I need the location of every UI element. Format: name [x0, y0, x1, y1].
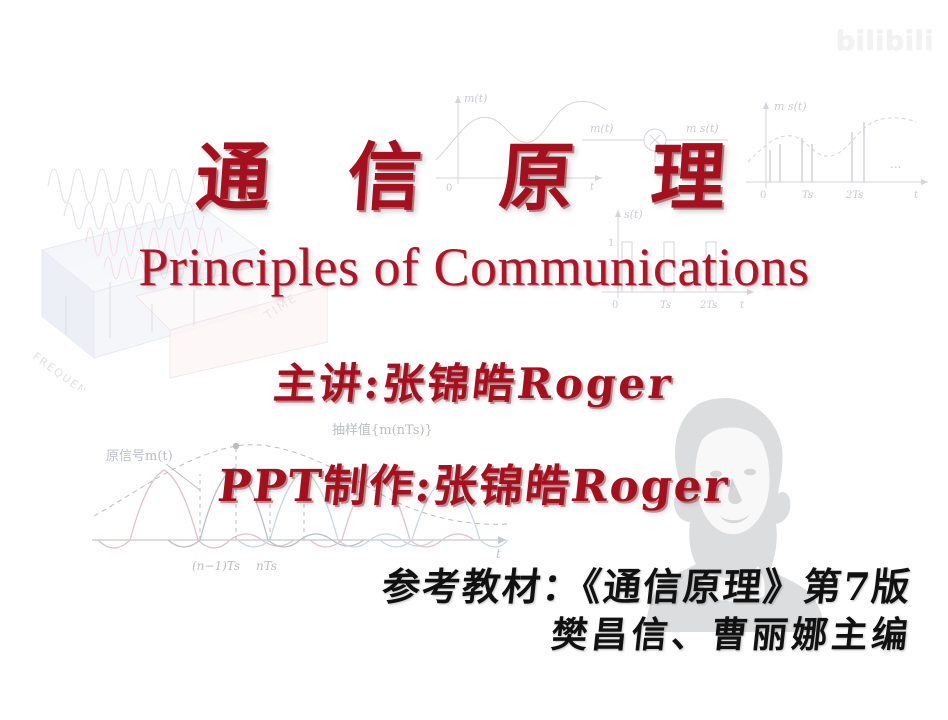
sample-values-label: 抽样值{m(nTs)}	[332, 422, 433, 438]
textbook-author-line: 樊昌信、曹丽娜主编	[0, 606, 948, 658]
ms-y-axis-label: m s(t)	[774, 100, 807, 113]
st-tick-2ts: 2Ts	[699, 300, 717, 311]
slide-title-english: Principles of Communications	[0, 236, 948, 298]
st-x-axis-label: t	[740, 300, 745, 311]
st-tick-ts: Ts	[660, 300, 671, 311]
speaker-line: 主讲:张锦皓Roger	[0, 350, 948, 411]
mt-y-axis-label: m(t)	[464, 92, 487, 105]
bilibili-watermark: bilibili	[836, 26, 934, 57]
textbook-reference-line: 参考教材：《通信原理》第7版	[0, 556, 948, 611]
slide-title-chinese: 通 信 原 理	[0, 118, 948, 225]
st-tick-0: 0	[612, 300, 618, 311]
ppt-author-line: PPT制作:张锦皓Roger	[0, 450, 948, 514]
presentation-title-slide: FREQUENCY TIME m(t) t 0	[0, 0, 948, 720]
sample-peak-marker	[233, 443, 239, 449]
